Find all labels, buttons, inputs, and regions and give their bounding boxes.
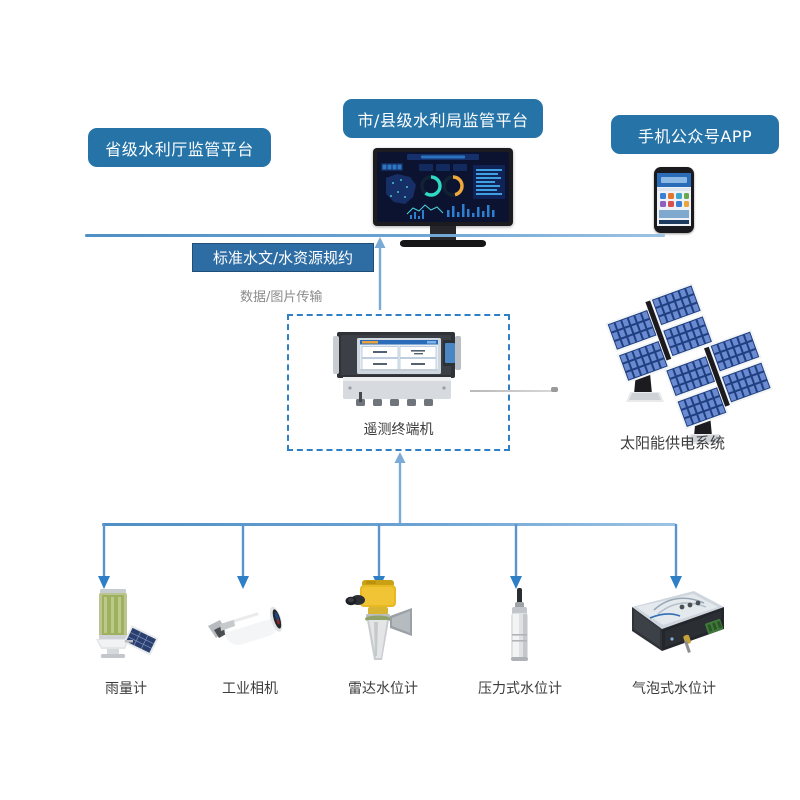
platform-mobile-app-label: 手机公众号APP — [638, 123, 752, 147]
label-industrial-camera: 工业相机 — [187, 678, 313, 698]
rtu-label: 遥测终端机 — [287, 419, 510, 439]
label-bubbler-level: 气泡式水位计 — [611, 678, 737, 698]
solar-label: 太阳能供电系统 — [580, 432, 765, 453]
rtu-graphic — [331, 330, 471, 408]
app-graphic — [657, 173, 691, 226]
drop-arrow-bubbler-level — [668, 524, 684, 590]
monitor-bezel — [373, 148, 513, 226]
device-pressure-level — [496, 588, 544, 662]
desktop-monitor — [373, 148, 513, 248]
rtu-device — [331, 330, 471, 408]
rtu-antenna — [470, 390, 555, 392]
protocol-standard-label: 标准水文/水资源规约 — [213, 247, 353, 268]
sensor-uplink-arrow — [392, 451, 408, 525]
device-industrial-camera — [204, 600, 296, 658]
platform-provincial-label: 省级水利厅监管平台 — [105, 136, 254, 160]
solar-power-system — [580, 292, 765, 442]
diagram-canvas: 省级水利厅监管平台 市/县级水利局监管平台 手机公众号APP — [0, 0, 800, 800]
label-pressure-level: 压力式水位计 — [457, 678, 583, 698]
monitor-screen — [377, 152, 509, 222]
camera-graphic — [204, 600, 296, 658]
uplink-arrow — [372, 236, 388, 310]
platform-mobile-app[interactable]: 手机公众号APP — [611, 115, 779, 154]
drop-arrow-industrial-camera — [235, 524, 251, 590]
rain-gauge-graphic — [78, 583, 174, 661]
device-radar-level — [338, 578, 424, 662]
label-radar-level: 雷达水位计 — [320, 678, 446, 698]
device-rain-gauge — [78, 583, 174, 661]
drop-arrow-rain-gauge — [96, 524, 112, 590]
platform-municipal-label: 市/县级水利局监管平台 — [358, 107, 529, 131]
protocol-transmission-label: 数据/图片传输 — [240, 286, 322, 305]
label-rain-gauge: 雨量计 — [63, 678, 189, 698]
protocol-standard-box[interactable]: 标准水文/水资源规约 — [192, 243, 374, 272]
radar-level-graphic — [338, 578, 424, 662]
monitor-stand-base — [400, 240, 486, 247]
pressure-level-graphic — [496, 588, 544, 662]
bubbler-level-graphic — [620, 585, 728, 661]
device-bubbler-level — [620, 585, 728, 661]
rtu-antenna-tip — [551, 387, 558, 392]
phone-body — [654, 167, 694, 233]
dashboard-graphic — [377, 152, 509, 222]
smartphone — [654, 167, 694, 233]
sensor-bus-line — [102, 523, 676, 526]
platform-municipal[interactable]: 市/县级水利局监管平台 — [343, 99, 543, 138]
drop-arrow-pressure-level — [508, 524, 524, 590]
phone-screen — [657, 173, 691, 226]
platform-provincial[interactable]: 省级水利厅监管平台 — [88, 128, 271, 167]
solar-graphic — [580, 292, 765, 442]
